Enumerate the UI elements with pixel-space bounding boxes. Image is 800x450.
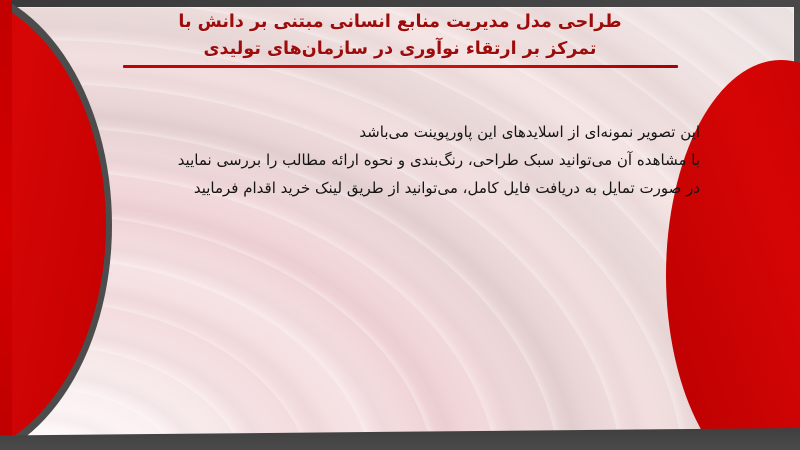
presentation-slide: طراحی مدل مدیریت منابع انسانی مبتنی بر د… xyxy=(0,0,800,450)
slide-title-line-2: تمرکز بر ارتقاء نوآوری در سازمان‌های تول… xyxy=(96,36,704,63)
body-line-3: در صورت تمایل به دریافت فایل کامل، می‌تو… xyxy=(60,174,700,202)
slide-body-text: این تصویر نمونه‌ای از اسلایدهای این پاور… xyxy=(60,118,700,202)
slide-title: طراحی مدل مدیریت منابع انسانی مبتنی بر د… xyxy=(96,9,704,68)
left-red-edge-strip xyxy=(0,0,12,450)
body-line-2: با مشاهده آن می‌توانید سبک طراحی، رنگ‌بن… xyxy=(60,146,700,174)
body-line-1: این تصویر نمونه‌ای از اسلایدهای این پاور… xyxy=(60,118,700,146)
slide-title-line-1: طراحی مدل مدیریت منابع انسانی مبتنی بر د… xyxy=(96,9,704,36)
title-underline-rule xyxy=(123,65,678,68)
